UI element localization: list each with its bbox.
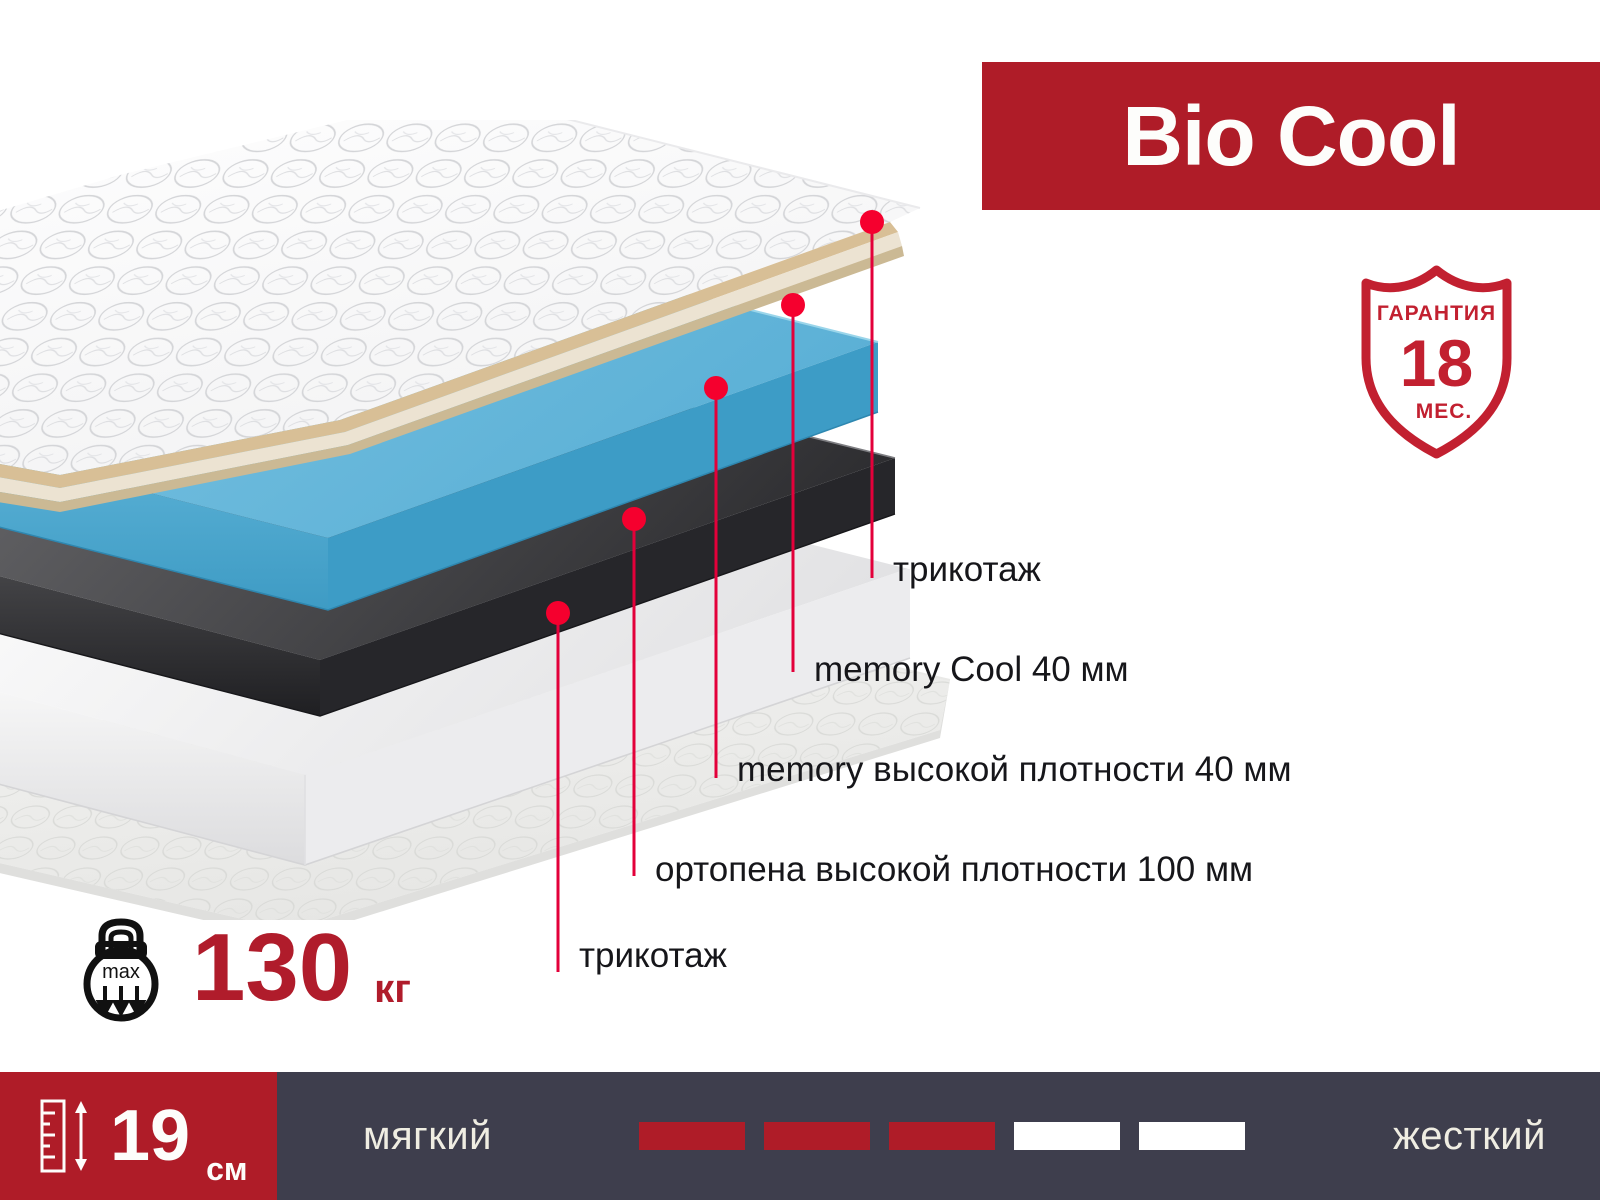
firmness-segment-1: [639, 1122, 745, 1150]
firmness-soft-label: мягкий: [363, 1114, 492, 1159]
layer-label-bottom-knit: трикотаж: [579, 938, 727, 973]
firmness-scale: [639, 1122, 1245, 1150]
firmness-hard-label: жесткий: [1393, 1114, 1546, 1159]
product-title: Bio Cool: [1122, 94, 1459, 178]
svg-text:18: 18: [1400, 326, 1473, 400]
layer-label-ortopena: ортопена высокой плотности 100 мм: [655, 852, 1253, 887]
max-weight-value: 130: [192, 920, 352, 1016]
max-weight-badge: max 130 кг: [72, 912, 411, 1024]
kettlebell-icon: max: [72, 912, 170, 1024]
height-block: 19 см: [0, 1072, 277, 1200]
mattress-illustration: [0, 120, 970, 920]
height-unit: см: [206, 1151, 247, 1200]
firmness-segment-3: [889, 1122, 995, 1150]
ruler-icon: [38, 1097, 94, 1175]
product-title-banner: Bio Cool: [982, 62, 1600, 210]
warranty-badge: ГАРАНТИЯ 18 МЕС.: [1334, 258, 1539, 463]
firmness-segment-2: [764, 1122, 870, 1150]
firmness-block: мягкий жесткий: [277, 1072, 1600, 1200]
bottom-bar: 19 см мягкий жесткий: [0, 1072, 1600, 1200]
svg-text:max: max: [102, 961, 140, 983]
firmness-segment-4: [1014, 1122, 1120, 1150]
svg-text:МЕС.: МЕС.: [1416, 400, 1473, 423]
svg-text:ГАРАНТИЯ: ГАРАНТИЯ: [1377, 302, 1496, 325]
firmness-segment-5: [1139, 1122, 1245, 1150]
max-weight-unit: кг: [374, 967, 411, 1024]
layer-label-memory-cool: memory Cool 40 мм: [814, 652, 1129, 687]
layer-label-memory-density: memory высокой плотности 40 мм: [737, 752, 1292, 787]
height-value: 19: [110, 1100, 190, 1172]
product-infographic: Bio Cool ГАРАНТИЯ 18 МЕС.: [0, 0, 1600, 1200]
layer-label-top-knit: трикотаж: [893, 552, 1041, 587]
